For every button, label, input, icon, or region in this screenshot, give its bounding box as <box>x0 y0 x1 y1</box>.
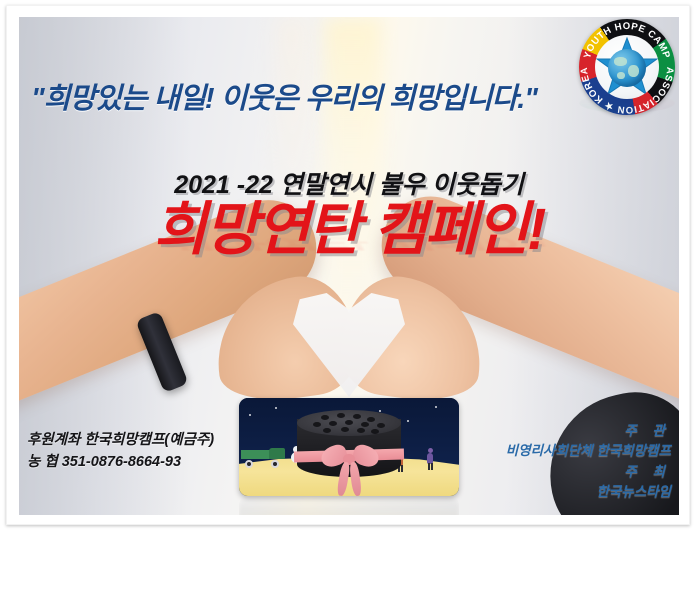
logo-arc-top-text: YOUTH HOPE CAMP <box>582 21 672 60</box>
poster-quote: "희망있는 내일! 이웃은 우리의 희망입니다." <box>31 75 611 117</box>
host-value: 한국뉴스타임 <box>506 482 671 502</box>
poster-image: "희망있는 내일! 이웃은 우리의 희망입니다." <box>19 17 679 515</box>
poster-frame: "희망있는 내일! 이웃은 우리의 희망입니다." <box>6 5 690 525</box>
delivery-truck <box>241 448 289 470</box>
host-label: 주 최 <box>506 462 671 482</box>
briquette-illustration <box>239 398 459 496</box>
campaign-title-reflection: 희망연탄 캠페인! <box>19 223 679 258</box>
donation-line-1: 후원계좌 한국희망캠프(예금주) <box>27 429 214 451</box>
donation-account-info: 후원계좌 한국희망캠프(예금주) 농 협 351-0876-8664-93 <box>27 429 214 474</box>
logo-reflection <box>579 93 675 113</box>
campaign-subtitle: 2021 -22 연말연시 불우 이웃돕기 <box>19 165 679 201</box>
coal-briquette-gift <box>297 410 401 480</box>
illustration-reflection <box>239 496 459 515</box>
person-purple <box>425 448 437 472</box>
donation-line-2: 농 협 351-0876-8664-93 <box>27 451 214 473</box>
supervise-value: 비영리사회단체 한국희망캠프 <box>506 441 671 461</box>
organizer-info: 주 관 비영리사회단체 한국희망캠프 주 최 한국뉴스타임 <box>506 421 671 502</box>
briquette-top <box>297 410 401 436</box>
supervise-label: 주 관 <box>506 421 671 441</box>
